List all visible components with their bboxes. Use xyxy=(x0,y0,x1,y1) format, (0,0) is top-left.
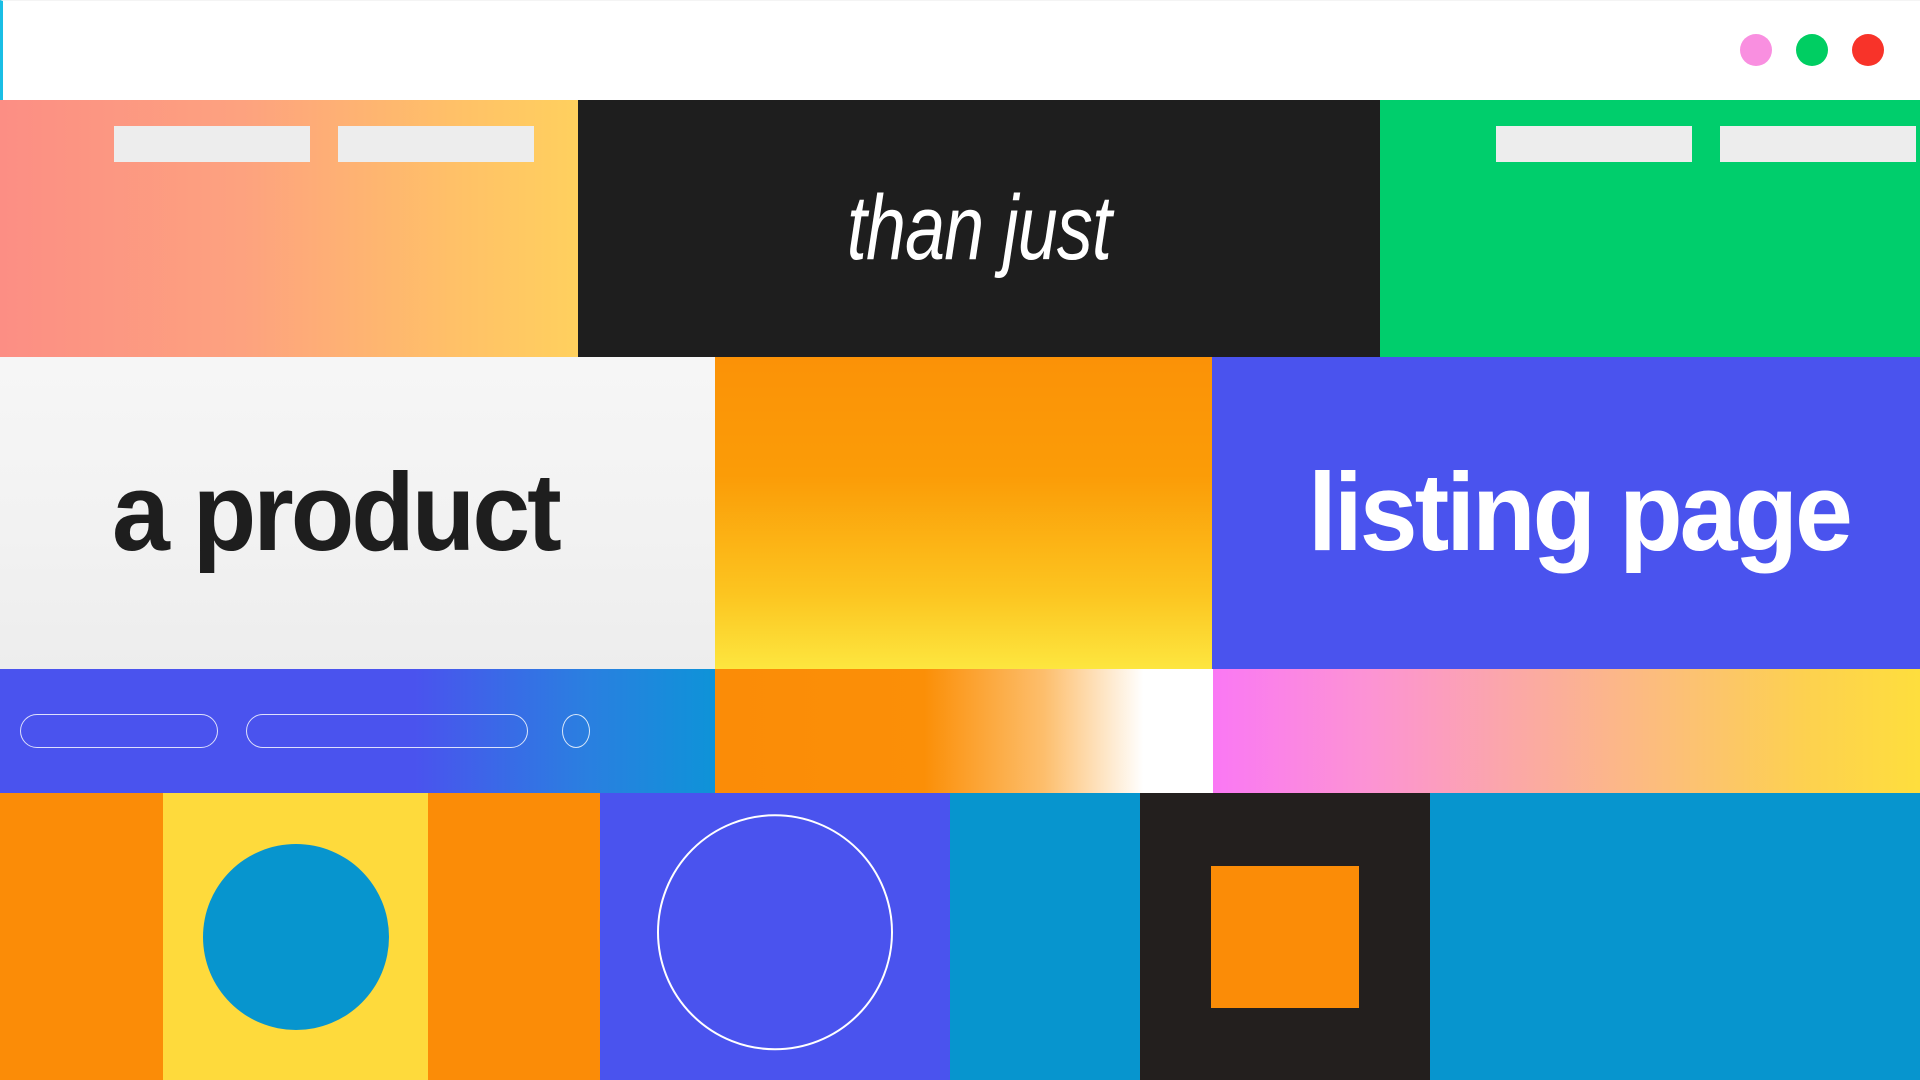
headline-row: a productlisting page xyxy=(0,357,1920,669)
headline-part-than-just: than just xyxy=(666,100,1292,357)
phrase-panel-a-product: a product xyxy=(0,357,715,669)
placeholder-bar[interactable] xyxy=(338,126,534,162)
tile-cyan-1 xyxy=(950,793,1140,1080)
square-shape-icon xyxy=(1211,866,1359,1008)
headline-part-listing-page: listing page xyxy=(1212,357,1920,669)
tiles-row xyxy=(0,793,1920,1080)
gradient-panel-pink-yellow xyxy=(1213,669,1920,793)
headline-part-a-product: a product xyxy=(0,357,715,669)
filter-field[interactable] xyxy=(246,714,528,748)
phrase-panel-listing-page: listing page xyxy=(1212,357,1920,669)
search-field[interactable] xyxy=(20,714,218,748)
placeholder-panel-right xyxy=(1380,100,1920,357)
controls-row xyxy=(0,669,1920,793)
placeholder-group xyxy=(1496,126,1916,162)
options-toggle[interactable] xyxy=(562,714,590,748)
placeholder-panel-left xyxy=(0,100,578,357)
placeholder-bar[interactable] xyxy=(1720,126,1916,162)
placeholder-bar[interactable] xyxy=(1496,126,1692,162)
close-icon[interactable] xyxy=(1852,34,1884,66)
tile-cyan-2 xyxy=(1430,793,1920,1080)
tile-orange-1 xyxy=(0,793,163,1080)
hero-row: than just xyxy=(0,100,1920,357)
canvas: than just a productlisting page xyxy=(0,0,1920,1080)
placeholder-bar[interactable] xyxy=(114,126,310,162)
circle-outline-icon xyxy=(657,814,893,1050)
minimize-icon[interactable] xyxy=(1740,34,1772,66)
phrase-panel-than-just: than just xyxy=(578,100,1380,357)
tile-dark-square xyxy=(1140,793,1430,1080)
search-bar-panel xyxy=(0,669,715,793)
tile-blue-circle xyxy=(600,793,950,1080)
placeholder-group xyxy=(114,126,534,162)
gradient-panel-orange-white xyxy=(715,669,1213,793)
gradient-panel-orange xyxy=(715,357,1212,669)
title-bar xyxy=(0,0,1920,100)
circle-shape-icon xyxy=(203,844,389,1030)
maximize-icon[interactable] xyxy=(1796,34,1828,66)
tile-yellow-circle xyxy=(163,793,428,1080)
tile-orange-2 xyxy=(428,793,600,1080)
window-controls xyxy=(1740,34,1884,66)
control-group xyxy=(20,669,590,793)
